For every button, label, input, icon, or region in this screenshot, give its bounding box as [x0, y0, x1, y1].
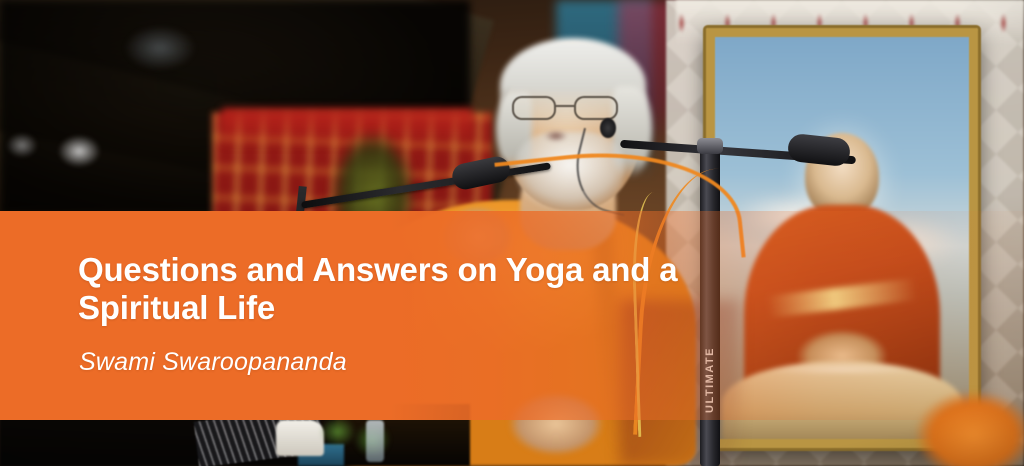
water-bottle: [366, 420, 384, 462]
banner-title: Questions and Answers on Yoga and a Spir…: [78, 251, 768, 327]
eyeglass-lens-left: [512, 96, 556, 120]
banner: ULTIMATE Questions and Answers on Yoga a…: [0, 0, 1024, 466]
eyeglasses-icon: [512, 96, 632, 120]
ceiling-cable-clamp: [0, 128, 110, 186]
title-text-group: Questions and Answers on Yoga and a Spir…: [78, 211, 778, 420]
microphone-pole-cap: [697, 138, 723, 154]
title-overlay-band: Questions and Answers on Yoga and a Spir…: [0, 211, 1024, 420]
speaker-mouth: [540, 128, 572, 144]
banner-subtitle: Swami Swaroopananda: [79, 348, 347, 377]
ceiling-light-glow: [112, 18, 208, 78]
eyeglass-lens-right: [574, 96, 618, 120]
eyeglass-bridge: [556, 105, 574, 107]
